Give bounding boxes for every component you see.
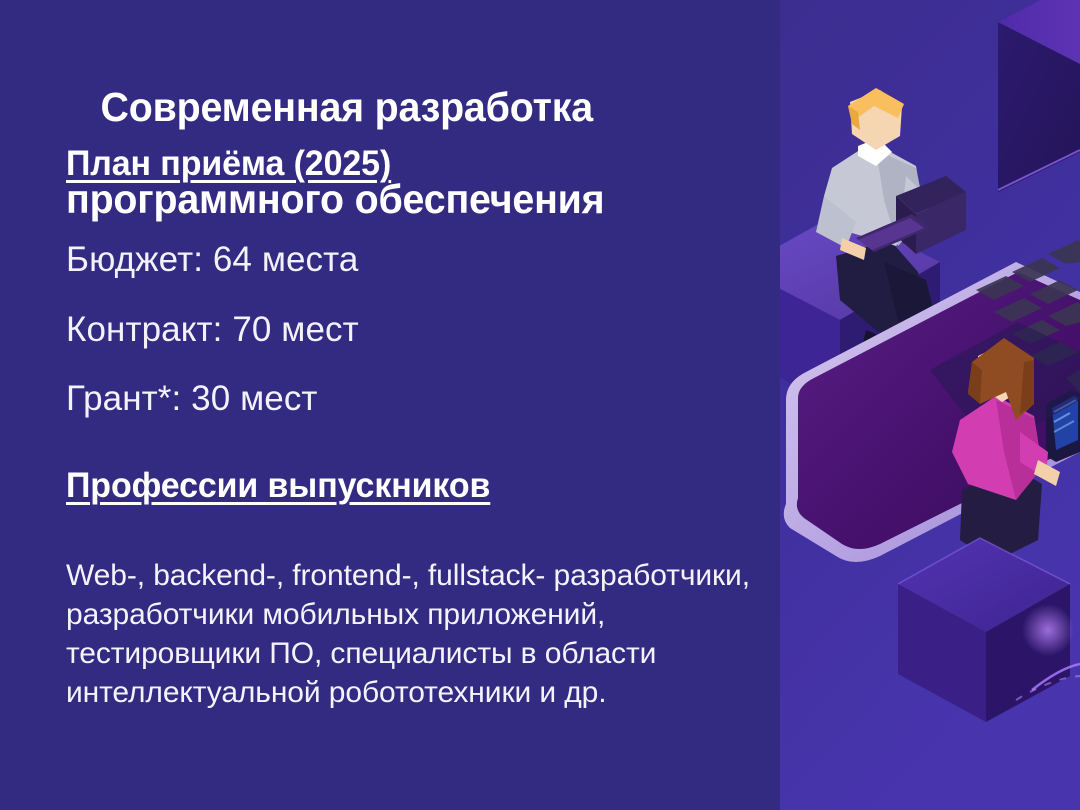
page-title-line-1: Современная разработка [66,85,738,131]
page-title-line-2: программного обеспечения [66,177,738,223]
slide-text-content: Современная разработка программного обес… [0,0,860,810]
laptop [856,176,966,254]
stat-contract: Контракт: 70 мест [66,310,359,350]
graduate-professions-body: Web-, backend-, frontend-, fullstack- ра… [66,556,856,712]
isometric-cube-top-right [998,0,1080,192]
body-line-4: интеллектуальной робототехники и др. [66,673,856,712]
stat-grant: Грант*: 30 мест [66,379,318,419]
woman-at-keyboard [952,338,1060,562]
woman-top [952,396,1042,500]
light-streak-dashed [1016,676,1080,700]
woman-skirt [960,466,1042,562]
keyboard-keys [976,240,1080,392]
woman-head [978,342,1028,402]
body-line-3: тестировщики ПО, специалисты в области [66,634,856,673]
man-shoe [862,330,898,360]
woman-hand [1034,460,1060,486]
isometric-cube-bottom [898,538,1070,722]
man-arm [902,176,930,228]
section-heading-graduate-professions: Профессии выпускников [66,466,490,506]
monitor [1046,390,1080,462]
woman-arm [1020,432,1048,478]
man-collar [858,138,892,166]
laptop-keyboard [856,214,930,252]
stat-budget: Бюджет: 64 места [66,240,358,280]
section-heading-admission-plan: План приёма (2025) [66,144,391,184]
light-streak [1032,664,1080,690]
woman-hair [968,338,1034,420]
presentation-slide: Современная разработка программного обес… [0,0,1080,810]
body-line-1: Web-, backend-, frontend-, fullstack- ра… [66,556,856,595]
body-line-2: разработчики мобильных приложений, [66,595,856,634]
glow-dot [1022,604,1074,656]
